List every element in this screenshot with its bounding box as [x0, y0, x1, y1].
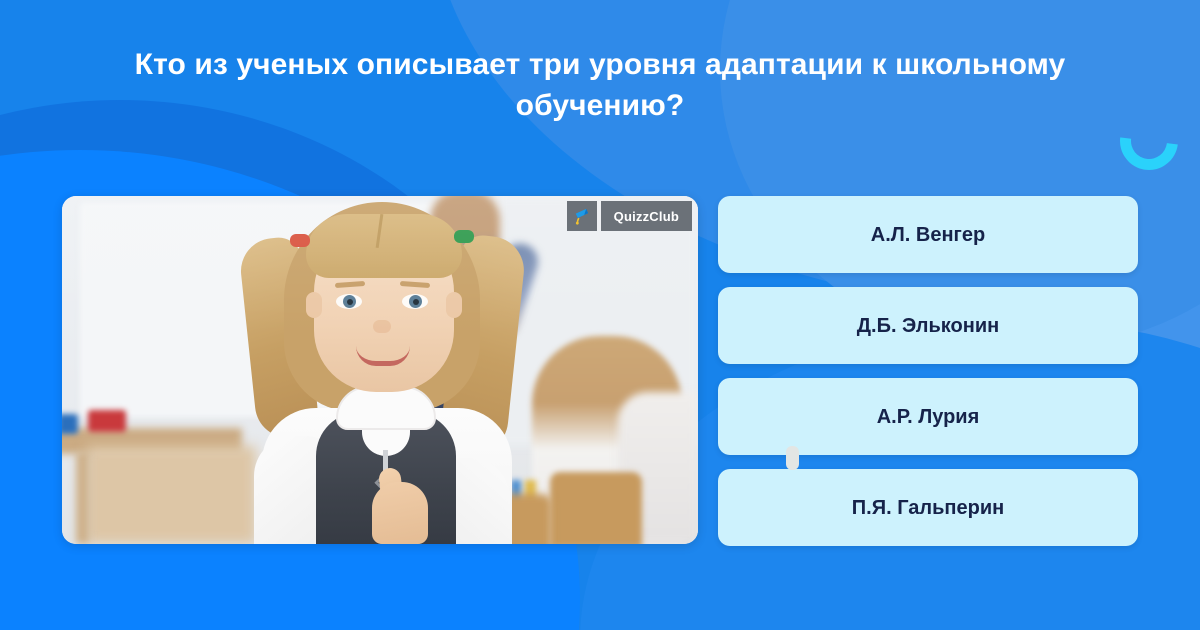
photo-hairband-right: [454, 230, 474, 243]
photo-hairband-left: [290, 234, 310, 247]
answer-option-b[interactable]: Д.Б. Эльконин: [718, 287, 1138, 364]
watermark-label: QuizzClub: [601, 201, 692, 231]
photo-fringe: [306, 214, 462, 278]
photo-ear-right: [446, 292, 462, 318]
photo-eye-right: [402, 294, 428, 309]
photo-nose: [373, 320, 391, 333]
photo-ear-left: [306, 292, 322, 318]
photo-eye-left: [336, 294, 362, 309]
page-title: Кто из ученых описывает три уровня адапт…: [130, 44, 1070, 127]
answer-option-d[interactable]: П.Я. Гальперин: [718, 469, 1138, 546]
answer-option-b-label: Д.Б. Эльконин: [841, 314, 1015, 338]
photo-desk-leg: [76, 452, 89, 544]
photo-turtleneck-collar: [336, 386, 436, 430]
watermark-badge: QuizzClub: [567, 201, 692, 231]
graduation-cap-icon: [567, 201, 597, 231]
quiz-card: Кто из ученых описывает три уровня адапт…: [0, 0, 1200, 630]
answer-option-a-label: А.Л. Венгер: [855, 223, 1001, 247]
question-image-card: QuizzClub: [62, 196, 698, 544]
photo-pupil-right: [413, 299, 419, 305]
question-photo: [62, 196, 698, 544]
scroll-marker: [786, 446, 799, 470]
photo-blue-object: [62, 414, 78, 434]
photo-iris-right: [409, 295, 422, 308]
answer-option-a[interactable]: А.Л. Венгер: [718, 196, 1138, 273]
answer-options-list: А.Л. Венгер Д.Б. Эльконин А.Р. Лурия П.Я…: [718, 196, 1138, 546]
photo-chair: [550, 472, 642, 544]
answer-option-c[interactable]: А.Р. Лурия: [718, 378, 1138, 455]
photo-schoolgirl: [232, 196, 542, 544]
answer-option-c-label: А.Р. Лурия: [861, 405, 996, 429]
answer-option-d-label: П.Я. Гальперин: [836, 496, 1020, 520]
photo-hand: [372, 482, 428, 544]
photo-red-object: [88, 410, 126, 432]
photo-iris-left: [343, 295, 356, 308]
question-header: Кто из ученых описывает три уровня адапт…: [0, 44, 1200, 127]
photo-desk-panel: [86, 446, 256, 544]
photo-pupil-left: [347, 299, 353, 305]
